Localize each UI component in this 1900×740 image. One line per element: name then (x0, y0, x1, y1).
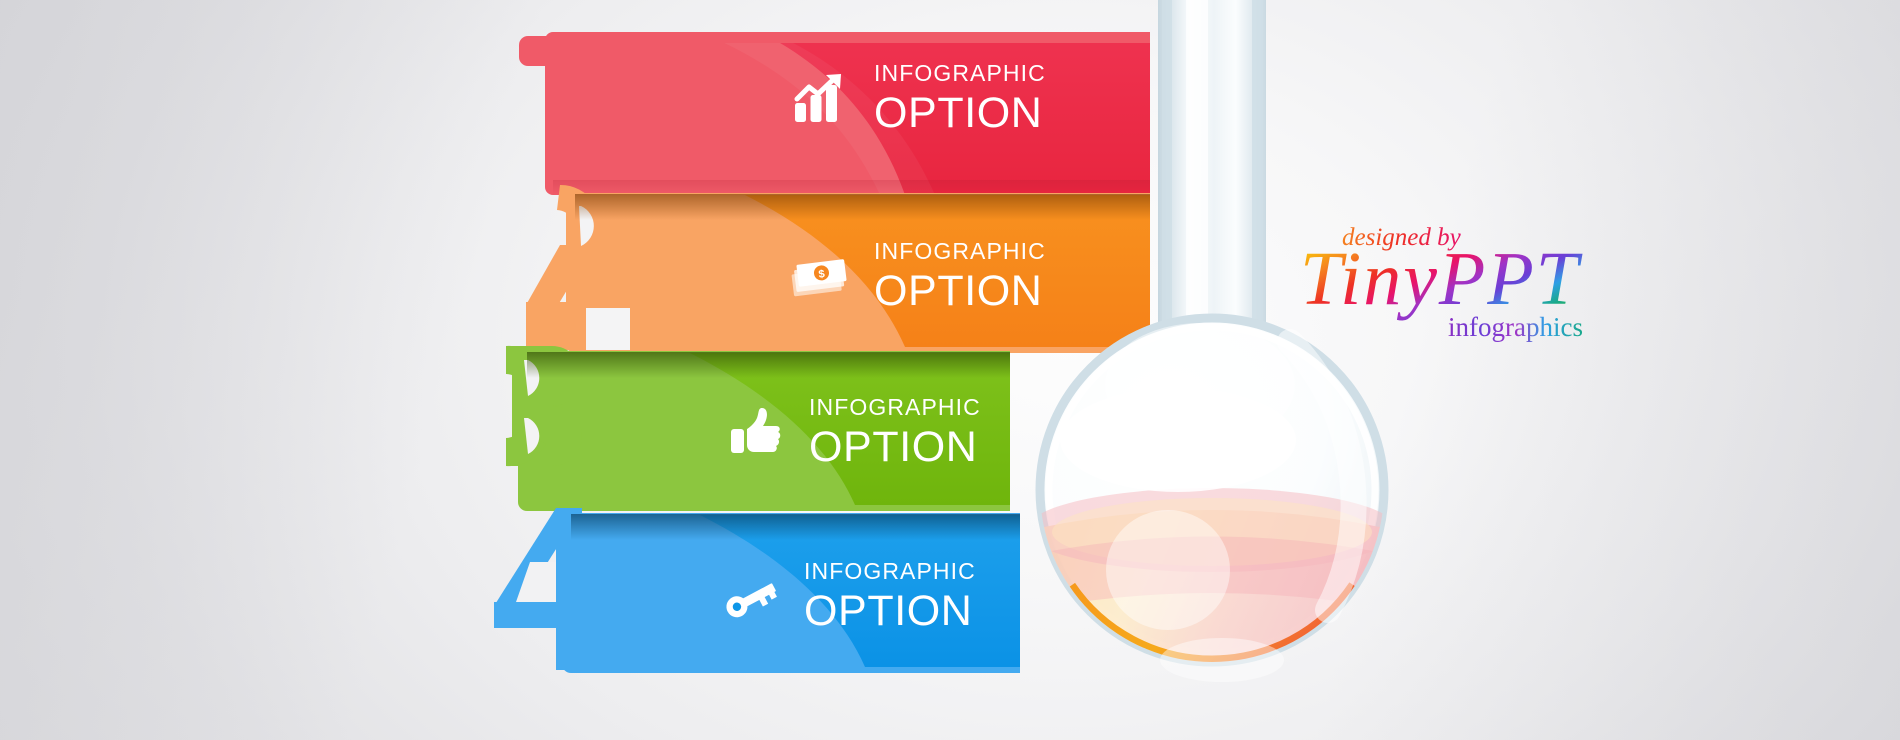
laboratory-flask-graphic (990, 0, 1430, 740)
logo-infographics: infographics (1448, 312, 1583, 342)
option-bars-group: INFOGRAPHIC OPTION (0, 0, 1900, 740)
infographic-canvas: INFOGRAPHIC OPTION (0, 0, 1900, 740)
tinyppt-logo[interactable]: designed by TinyPPT infographics (1300, 218, 1700, 358)
logo-tinyppt: TinyPPT (1300, 237, 1583, 321)
